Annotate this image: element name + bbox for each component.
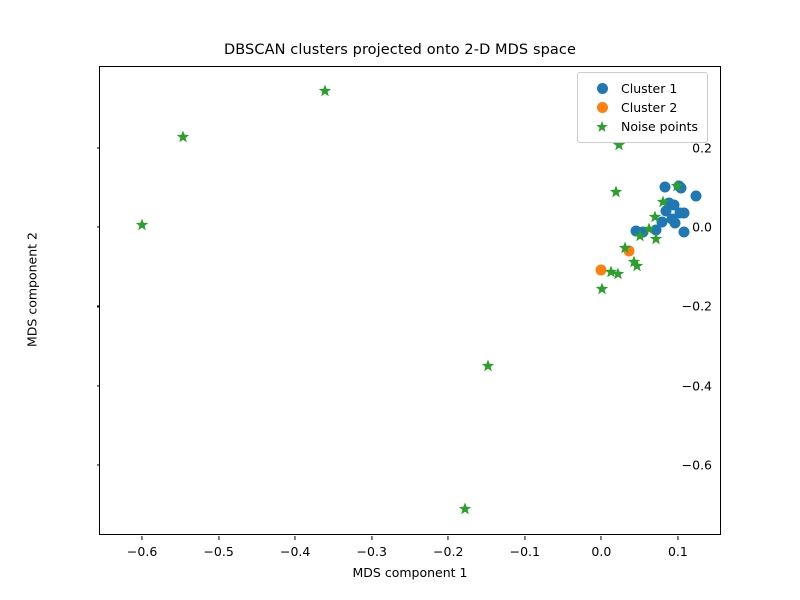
legend-dot bbox=[597, 102, 608, 113]
y-axis-tick-mark bbox=[97, 385, 101, 386]
legend-item-label: Cluster 1 bbox=[619, 81, 677, 96]
x-axis-tick-label: 0.1 bbox=[668, 544, 688, 559]
y-axis-tick-label: −0.2 bbox=[682, 299, 712, 314]
x-axis-tick-mark bbox=[448, 536, 449, 540]
x-axis-tick-label: −0.4 bbox=[280, 544, 310, 559]
scatter-point-circle bbox=[679, 208, 690, 219]
x-axis-tick-mark bbox=[524, 536, 525, 540]
scatter-point-circle bbox=[679, 227, 690, 238]
legend: Cluster 1Cluster 2Noise points bbox=[577, 72, 708, 143]
x-axis-tick-mark bbox=[371, 536, 372, 540]
x-axis-tick-label: −0.2 bbox=[433, 544, 463, 559]
legend-item[interactable]: Noise points bbox=[585, 117, 698, 136]
x-axis-tick-label: −0.5 bbox=[203, 544, 233, 559]
legend-circle-icon bbox=[585, 102, 619, 113]
legend-item[interactable]: Cluster 2 bbox=[585, 98, 698, 117]
scatter-point-star bbox=[136, 218, 149, 231]
y-axis-label: MDS component 2 bbox=[25, 90, 40, 490]
figure-canvas: DBSCAN clusters projected onto 2-D MDS s… bbox=[0, 0, 800, 600]
x-axis-tick-label: −0.3 bbox=[357, 544, 387, 559]
scatter-point-circle bbox=[669, 218, 680, 229]
scatter-point-star bbox=[633, 229, 646, 242]
scatter-point-star bbox=[595, 282, 608, 295]
scatter-point-star bbox=[657, 196, 670, 209]
x-axis-tick-mark bbox=[142, 536, 143, 540]
scatter-point-circle bbox=[659, 181, 670, 192]
legend-dot bbox=[597, 83, 608, 94]
x-axis-tick-label: −0.1 bbox=[510, 544, 540, 559]
scatter-point-star bbox=[176, 131, 189, 144]
x-axis-tick-label: −0.6 bbox=[127, 544, 157, 559]
scatter-point-star bbox=[619, 241, 632, 254]
scatter-point-star bbox=[459, 503, 472, 516]
scatter-point-star bbox=[609, 186, 622, 199]
x-axis-tick-mark bbox=[677, 536, 678, 540]
y-axis-tick-label: −0.6 bbox=[682, 457, 712, 472]
y-axis-tick-mark bbox=[97, 227, 101, 228]
legend-circle-icon bbox=[585, 83, 619, 94]
scatter-point-star bbox=[482, 359, 495, 372]
y-axis-tick-mark bbox=[97, 148, 101, 149]
legend-item[interactable]: Cluster 1 bbox=[585, 79, 698, 98]
y-axis-tick-label: 0.0 bbox=[692, 220, 712, 235]
x-axis-tick-label: 0.0 bbox=[591, 544, 611, 559]
scatter-point-star bbox=[650, 233, 663, 246]
scatter-point-star bbox=[319, 84, 332, 97]
x-axis-tick-mark bbox=[295, 536, 296, 540]
y-axis-tick-label: −0.4 bbox=[682, 378, 712, 393]
y-axis-tick-mark bbox=[97, 464, 101, 465]
scatter-point-star bbox=[627, 256, 640, 269]
legend-star-icon bbox=[585, 121, 619, 133]
x-axis-tick-mark bbox=[218, 536, 219, 540]
legend-item-label: Cluster 2 bbox=[619, 100, 677, 115]
scatter-point-circle bbox=[691, 190, 702, 201]
x-axis-label: MDS component 1 bbox=[99, 565, 721, 580]
scatter-point-star bbox=[612, 267, 625, 280]
legend-item-label: Noise points bbox=[619, 119, 698, 134]
page-title: DBSCAN clusters projected onto 2-D MDS s… bbox=[0, 42, 800, 58]
scatter-point-star bbox=[671, 179, 684, 192]
x-axis-tick-mark bbox=[601, 536, 602, 540]
y-axis-tick-mark bbox=[97, 306, 101, 307]
